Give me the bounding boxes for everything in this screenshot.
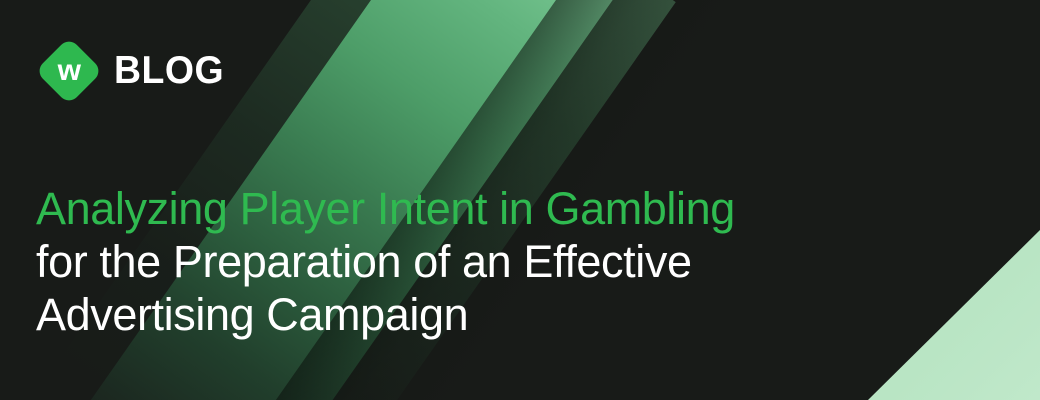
logo-letter: w xyxy=(36,38,102,104)
headline-line-2: for the Preparation of an Effective xyxy=(36,235,996,288)
diamond-logo-icon[interactable]: w xyxy=(36,38,102,104)
blog-hero-banner: w BLOG Analyzing Player Intent in Gambli… xyxy=(0,0,1040,400)
headline-line-3: Advertising Campaign xyxy=(36,288,996,341)
headline-line-1: Analyzing Player Intent in Gambling xyxy=(36,182,996,235)
page-title: Analyzing Player Intent in Gambling for … xyxy=(36,182,996,341)
brand-logo-row[interactable]: w BLOG xyxy=(36,38,229,104)
brand-wordmark: BLOG xyxy=(114,51,224,92)
